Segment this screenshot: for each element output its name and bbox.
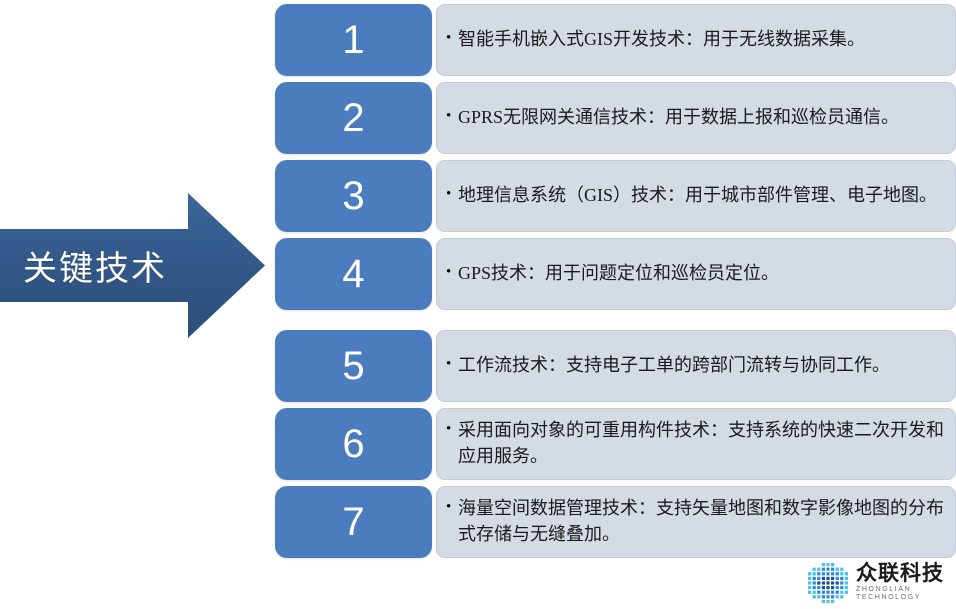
row-text-panel: 智能手机嵌入式GIS开发技术：用于无线数据采集。 [436,4,956,76]
row-text-panel: GPRS无限网关通信技术：用于数据上报和巡检员通信。 [436,82,956,154]
row-text: GPRS无限网关通信技术：用于数据上报和巡检员通信。 [446,105,899,131]
row-number-badge: 2 [275,82,432,154]
row-number-badge: 6 [275,408,432,480]
row-number-badge: 7 [275,486,432,558]
row-number-badge: 4 [275,238,432,310]
row-text-panel: 工作流技术：支持电子工单的跨部门流转与协同工作。 [436,330,956,402]
row-text: GPS技术：用于问题定位和巡检员定位。 [446,261,779,287]
row-text-panel: 海量空间数据管理技术：支持矢量地图和数字影像地图的分布式存储与无缝叠加。 [436,486,956,558]
list-item[interactable]: 3 地理信息系统（GIS）技术：用于城市部件管理、电子地图。 [275,160,956,232]
row-number-badge: 1 [275,4,432,76]
row-text: 海量空间数据管理技术：支持矢量地图和数字影像地图的分布式存储与无缝叠加。 [446,496,945,547]
row-number-badge: 5 [275,330,432,402]
technology-list: 1 智能手机嵌入式GIS开发技术：用于无线数据采集。 2 GPRS无限网关通信技… [275,0,956,609]
list-item[interactable]: 5 工作流技术：支持电子工单的跨部门流转与协同工作。 [275,330,956,402]
brand-logo: 众联科技 ZHONGLIAN TECHNOLOGY [806,560,954,605]
logo-company-name: 众联科技 [856,563,954,585]
globe-dots-logo-icon [806,563,850,603]
key-technology-arrow-callout: 关键技术 [0,193,265,338]
list-item[interactable]: 7 海量空间数据管理技术：支持矢量地图和数字影像地图的分布式存储与无缝叠加。 [275,486,956,558]
list-item[interactable]: 6 采用面向对象的可重用构件技术：支持系统的快速二次开发和应用服务。 [275,408,956,480]
list-item[interactable]: 4 GPS技术：用于问题定位和巡检员定位。 [275,238,956,310]
list-item[interactable]: 2 GPRS无限网关通信技术：用于数据上报和巡检员通信。 [275,82,956,154]
row-text: 智能手机嵌入式GIS开发技术：用于无线数据采集。 [446,27,865,53]
logo-company-subtitle: ZHONGLIAN TECHNOLOGY [856,586,954,603]
row-text: 工作流技术：支持电子工单的跨部门流转与协同工作。 [446,353,890,379]
callout-label: 关键技术 [0,193,190,338]
row-text: 地理信息系统（GIS）技术：用于城市部件管理、电子地图。 [446,183,937,209]
row-text-panel: 采用面向对象的可重用构件技术：支持系统的快速二次开发和应用服务。 [436,408,956,480]
row-number-badge: 3 [275,160,432,232]
row-text-panel: 地理信息系统（GIS）技术：用于城市部件管理、电子地图。 [436,160,956,232]
logo-text: 众联科技 ZHONGLIAN TECHNOLOGY [856,563,954,603]
row-text: 采用面向对象的可重用构件技术：支持系统的快速二次开发和应用服务。 [446,418,945,469]
list-item[interactable]: 1 智能手机嵌入式GIS开发技术：用于无线数据采集。 [275,4,956,76]
row-text-panel: GPS技术：用于问题定位和巡检员定位。 [436,238,956,310]
